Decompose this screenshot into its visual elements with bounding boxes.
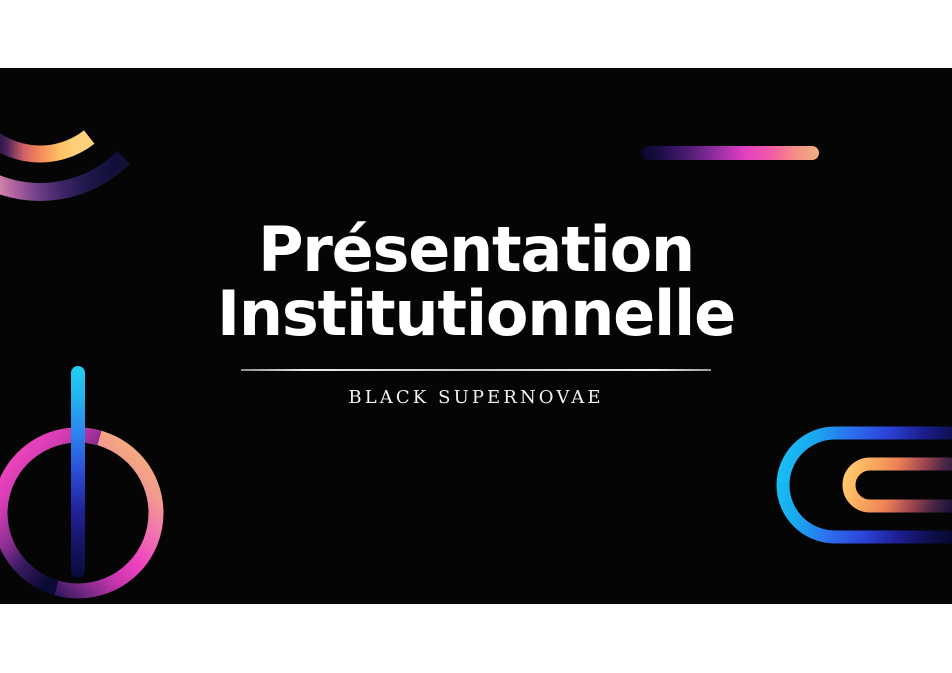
title-line-1: Présentation [217, 218, 735, 281]
slide-canvas: Présentation Institutionnelle BLACK SUPE… [0, 0, 952, 673]
page-title: Présentation Institutionnelle [217, 218, 735, 344]
slide-stage: Présentation Institutionnelle BLACK SUPE… [0, 68, 952, 604]
title-line-2: Institutionnelle [217, 282, 735, 345]
slide-subtitle: BLACK SUPERNOVAE [348, 387, 603, 408]
title-block: Présentation Institutionnelle BLACK SUPE… [0, 68, 952, 604]
title-divider [241, 369, 711, 371]
